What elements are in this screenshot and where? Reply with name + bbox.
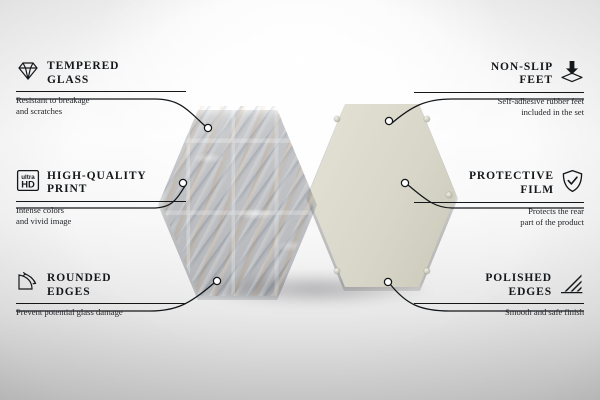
svg-text:HD: HD: [21, 179, 35, 190]
feature-title-line2: FILM: [520, 184, 554, 196]
feature-title-line2: FEET: [519, 74, 553, 86]
product-infographic: TEMPERED GLASS Resistant to breakage and…: [0, 0, 600, 400]
feature-rule: [16, 91, 186, 92]
feature-title-line2: EDGES: [509, 286, 553, 298]
feature-desc-line2: and scratches: [16, 106, 62, 116]
feature-desc-line1: Intense colors: [16, 205, 64, 215]
feature-rule: [414, 303, 584, 304]
feature-desc-line1: Prevent potential glass damage: [16, 307, 123, 317]
rubber-foot: [334, 116, 340, 122]
feature-rule: [414, 202, 584, 203]
feature-rule: [414, 92, 584, 93]
feature-desc-line2: part of the product: [520, 217, 584, 227]
feature-desc-line1: Self-adhesive rubber feet: [498, 96, 584, 106]
feature-desc-line2: and vivid image: [16, 216, 71, 226]
feature-title-line2: GLASS: [47, 74, 89, 86]
rubber-foot: [334, 268, 340, 274]
feature-rounded-edges[interactable]: ROUNDED EDGES Prevent potential glass da…: [16, 272, 186, 318]
feature-title-line1: NON-SLIP: [491, 61, 553, 73]
feature-title-line2: EDGES: [47, 286, 91, 298]
feature-desc-line1: Protects the rear: [528, 206, 584, 216]
diamond-icon: [16, 60, 40, 87]
feature-high-quality-print[interactable]: ultra HD HIGH-QUALITY PRINT Intense colo…: [16, 169, 186, 227]
feature-title-line1: PROTECTIVE: [469, 170, 554, 182]
feature-title-line1: ROUNDED: [47, 272, 111, 284]
feature-tempered-glass[interactable]: TEMPERED GLASS Resistant to breakage and…: [16, 60, 186, 117]
shield-check-icon: [561, 169, 584, 198]
feature-desc-line2: included in the set: [521, 107, 584, 117]
feature-title-line2: PRINT: [47, 183, 87, 195]
rounded-corner-icon: [16, 272, 40, 299]
feature-protective-film[interactable]: PROTECTIVE FILM Protects the rear part o…: [414, 169, 584, 228]
press-down-pad-icon: [560, 60, 584, 88]
feature-non-slip-feet[interactable]: NON-SLIP FEET Self-adhesive rubber feet …: [414, 60, 584, 118]
feature-title-line1: TEMPERED: [47, 60, 119, 72]
feature-desc-line1: Smooth and safe finish: [505, 307, 584, 317]
feature-desc-line1: Resistant to breakage: [16, 95, 90, 105]
feature-title-line1: HIGH-QUALITY: [47, 170, 147, 182]
ultra-hd-icon: ultra HD: [16, 169, 40, 197]
feature-title-line1: POLISHED: [485, 272, 552, 284]
feature-polished-edges[interactable]: POLISHED EDGES Smooth and safe finish: [414, 272, 584, 318]
feature-rule: [16, 201, 186, 202]
hatched-triangle-icon: [559, 272, 584, 299]
feature-rule: [16, 303, 186, 304]
